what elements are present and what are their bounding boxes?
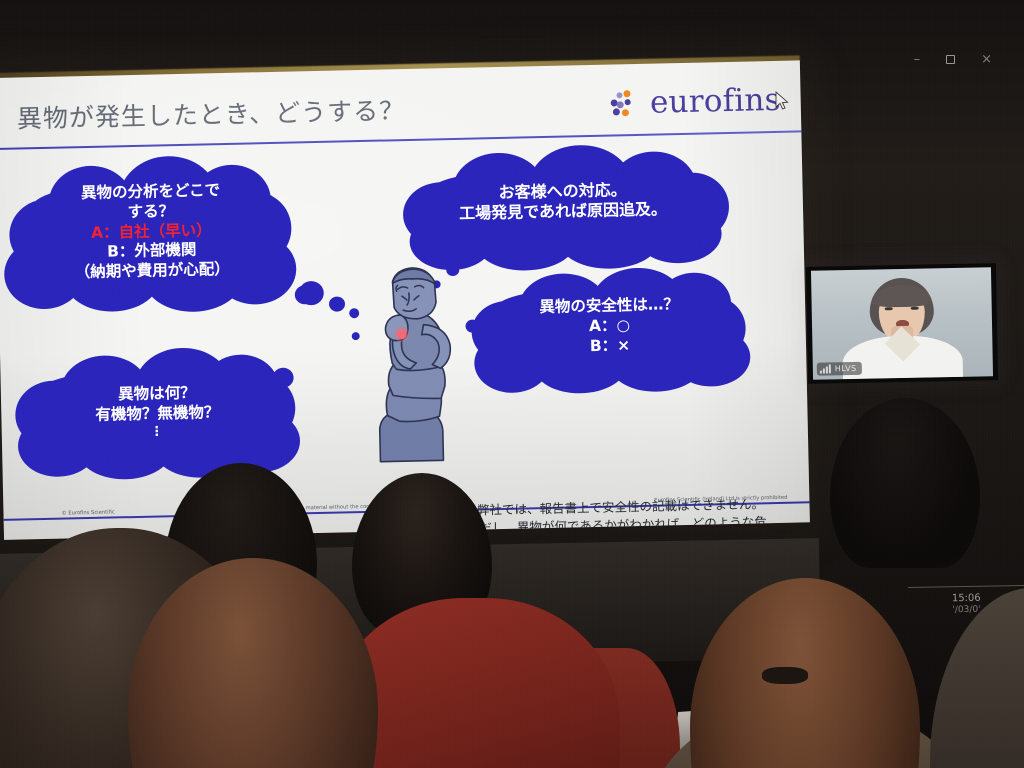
participant-name: HLVS bbox=[835, 364, 857, 373]
bubble-what-is-it: 異物は何？ 有機物？無機物？ ⋮ bbox=[24, 356, 290, 474]
eurofins-wordmark: eurofins bbox=[650, 85, 781, 119]
eurofins-dots-icon bbox=[611, 89, 642, 118]
projection-screen: 異物が発生したとき、どうする？ eurofins bbox=[0, 60, 810, 539]
signal-bars-icon bbox=[820, 364, 831, 373]
audience-hair-tie bbox=[762, 667, 808, 684]
close-button[interactable]: × bbox=[981, 52, 992, 67]
bubble-safety: 異物の安全性は…？ A：○ B：× bbox=[479, 280, 741, 390]
video-feed: HLVS bbox=[811, 267, 993, 379]
window-controls: – × bbox=[914, 52, 992, 67]
bubble-text: 異物は何？ 有機物？無機物？ ⋮ bbox=[25, 382, 290, 444]
thought-dot bbox=[299, 281, 325, 306]
bubble-text: 異物の安全性は…？ A：○ B：× bbox=[479, 294, 740, 359]
mouse-cursor-icon bbox=[775, 91, 789, 111]
title-divider bbox=[0, 130, 801, 150]
slide-title: 異物が発生したとき、どうする？ bbox=[16, 91, 405, 135]
thinker-statue-illustration bbox=[356, 264, 466, 466]
bubble-text: 異物の分析をどこで する？ A：自社（早い） B：外部機関 （納期や費用が心配） bbox=[14, 180, 288, 285]
video-thumbnail-panel[interactable]: HLVS bbox=[806, 263, 998, 384]
clock-widget: 15:06 '/03/0' bbox=[952, 593, 981, 615]
restore-button[interactable] bbox=[946, 55, 955, 64]
presentation-slide: 異物が発生したとき、どうする？ eurofins bbox=[0, 60, 810, 539]
participant-name-badge: HLVS bbox=[817, 362, 862, 376]
footer-copyright-left: © Eurofins Scientific bbox=[61, 509, 114, 516]
bubble-customer-response: お客様への対応。 工場発見であれば原因追及。 bbox=[412, 162, 714, 255]
eurofins-logo: eurofins bbox=[611, 85, 781, 120]
thought-dot bbox=[272, 368, 293, 388]
thinker-svg bbox=[356, 264, 466, 466]
bubble-text: お客様への対応。 工場発見であれば原因追及。 bbox=[412, 178, 713, 225]
clock-time: 15:06 bbox=[952, 593, 981, 605]
thought-dot bbox=[329, 296, 345, 311]
minimize-button[interactable]: – bbox=[914, 52, 921, 67]
bubble-where-to-analyze: 異物の分析をどこで する？ A：自社（早い） B：外部機関 （納期や費用が心配） bbox=[14, 168, 289, 310]
screenshot-root: – × 異物が発生したとき、どうする？ eurofins bbox=[0, 0, 1024, 768]
